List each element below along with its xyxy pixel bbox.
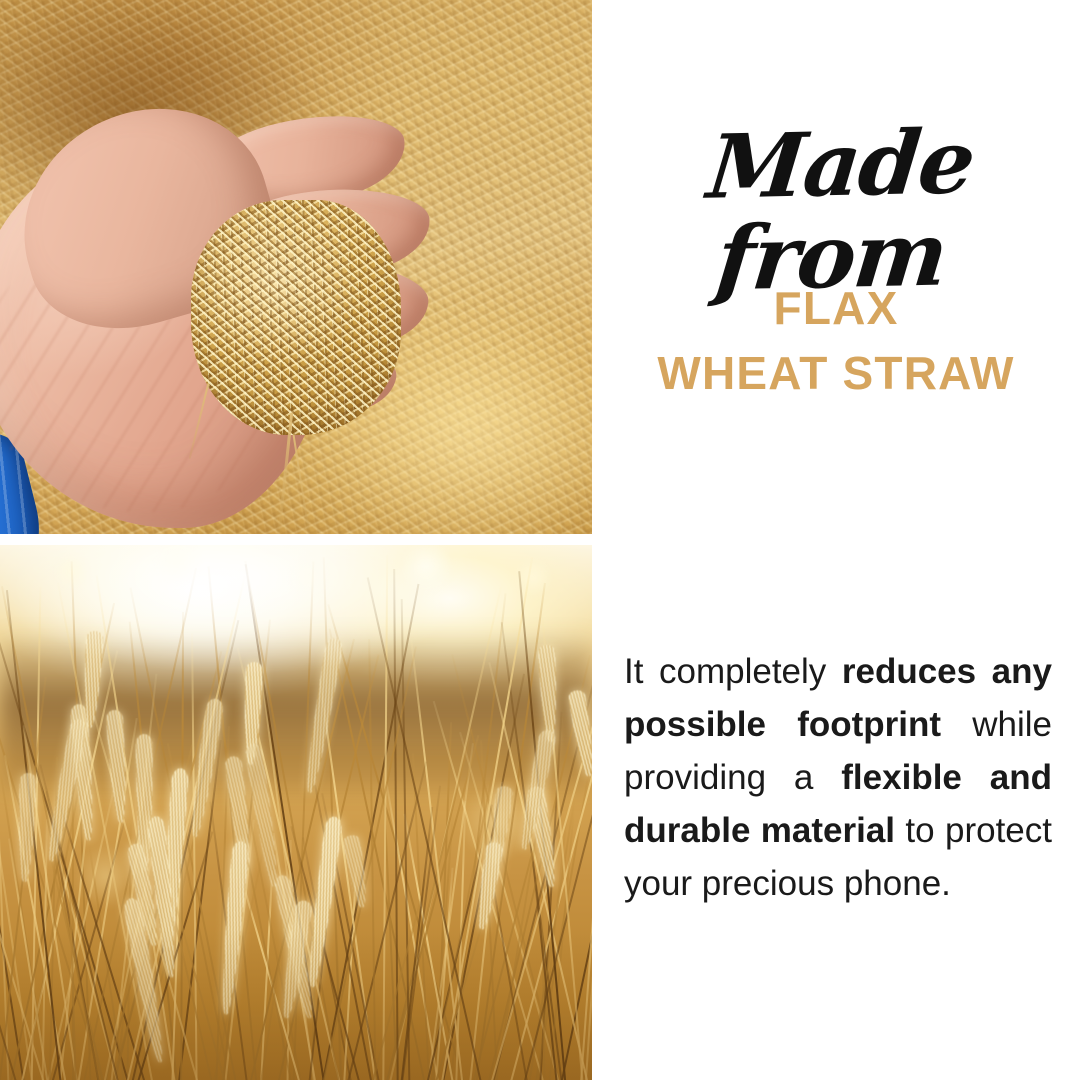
loose-straw-strand (293, 434, 310, 529)
sunset-field-background (0, 545, 592, 1080)
photo-column (0, 0, 592, 1080)
grass-stems (0, 545, 592, 1080)
body-paragraph: It completely reduces any possible footp… (624, 645, 1052, 910)
rice-husk-mound (191, 200, 401, 435)
subhead-line-flax: FLAX (592, 276, 1080, 341)
body-text: It completely (624, 652, 842, 691)
hand-graphic (0, 82, 446, 534)
foxtail-seed-head (538, 645, 559, 743)
husk-strands (191, 200, 401, 435)
hand-holding-rice-husk-photo (0, 0, 592, 534)
poster-canvas: Made from FLAX WHEAT STRAW It completely… (0, 0, 1080, 1080)
foxtail-seed-head (82, 630, 104, 728)
subhead-line-wheat-straw: WHEAT STRAW (592, 341, 1080, 406)
golden-wheat-field-photo (0, 545, 592, 1080)
subhead-materials: FLAX WHEAT STRAW (592, 276, 1080, 407)
text-column: Made from FLAX WHEAT STRAW It completely… (592, 0, 1080, 1080)
